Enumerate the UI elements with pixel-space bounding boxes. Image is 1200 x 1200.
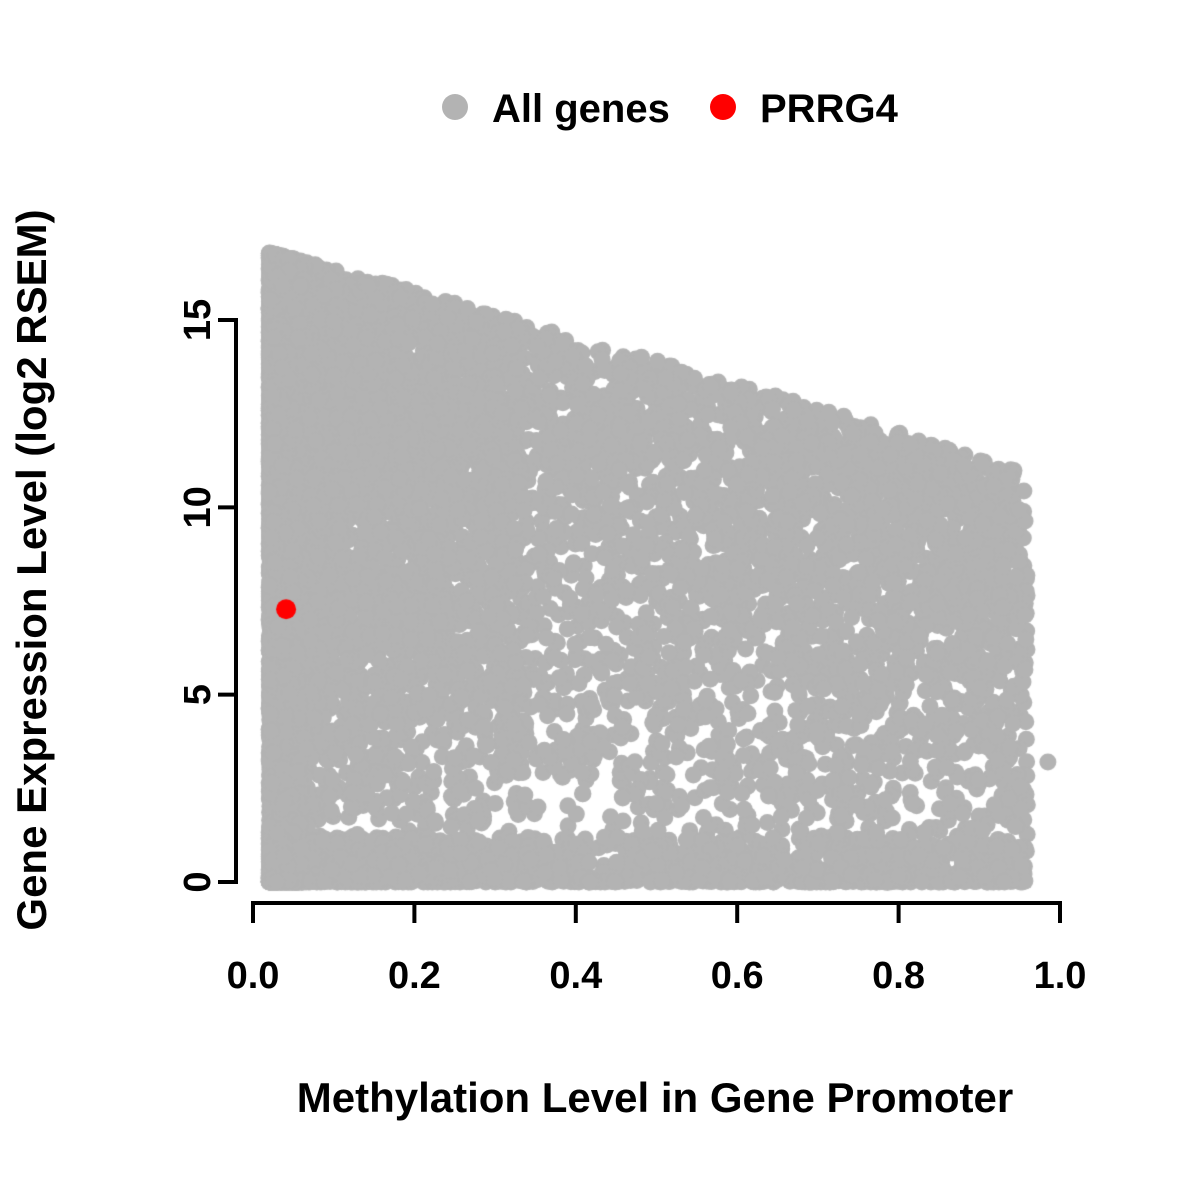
scatter-point-cloud <box>0 0 1200 1200</box>
scatter-plot-figure: 051015 0.00.20.40.60.81.0 Methylation Le… <box>0 0 1200 1200</box>
